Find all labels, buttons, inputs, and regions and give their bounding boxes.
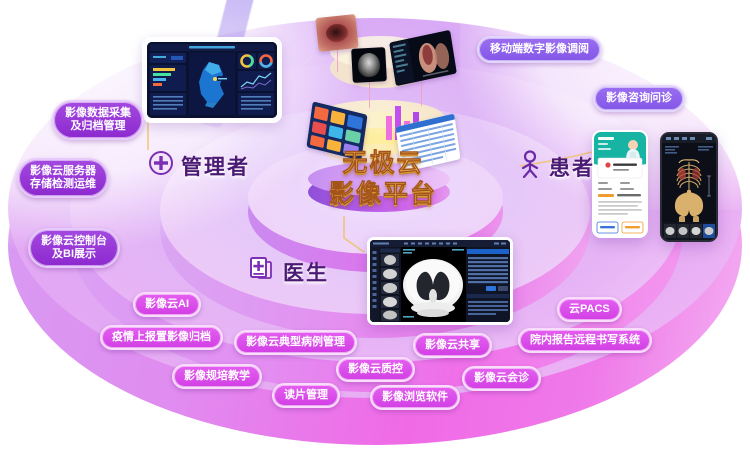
bi-dashboard-screen: [147, 42, 277, 118]
ultrasound-mini-screen: [351, 47, 387, 83]
role-patient-label: 患者: [549, 152, 595, 182]
infographic-canvas: 无极云 影像平台 管理者 患者: [0, 0, 750, 450]
feature-pill-line1: 影像数据采集: [65, 107, 131, 120]
bi-dashboard-laptop: [142, 37, 282, 123]
feature-pill-doctor-5[interactable]: 影像云质控: [336, 357, 415, 382]
feature-pill-line1: 影像云服务器: [30, 165, 96, 178]
feature-pill-admin-0[interactable]: 影像数据采集 及归档管理: [52, 100, 144, 140]
feature-pill-doctor-0[interactable]: 影像云AI: [133, 292, 201, 317]
feature-pill-line1: 影像云控制台: [41, 235, 107, 248]
plus-circle-icon: [148, 150, 174, 181]
role-administrator-label: 管理者: [181, 151, 250, 181]
feature-pill-doctor-9[interactable]: 云PACS: [557, 297, 622, 322]
platform-title-line2: 影像平台: [318, 179, 448, 210]
ct-viewer-screen: [370, 240, 510, 322]
mini-screen-stem: [369, 82, 370, 108]
feature-pill-line2: 及BI展示: [41, 248, 107, 261]
patient-3d-phone: [660, 132, 718, 242]
ct-workstation-panel: [367, 237, 513, 325]
feature-pill-patient-1[interactable]: 影像咨询问诊: [593, 85, 685, 112]
role-doctor-label: 医生: [283, 257, 329, 287]
mini-screen-stem: [337, 50, 338, 72]
platform-title: 无极云 影像平台: [318, 148, 448, 209]
endoscopy-mini-screen: [315, 14, 358, 52]
feature-pill-doctor-1[interactable]: 疫情上报置影像归档: [100, 325, 223, 350]
feature-pill-admin-2[interactable]: 影像云控制台 及BI展示: [28, 228, 120, 268]
platform-title-line1: 无极云: [318, 148, 448, 179]
feature-pill-doctor-2[interactable]: 影像云典型病例管理: [234, 330, 357, 355]
feature-pill-doctor-8[interactable]: 影像云会诊: [462, 366, 541, 391]
feature-pill-doctor-7[interactable]: 影像浏览软件: [370, 385, 460, 410]
feature-pill-patient-0[interactable]: 移动端数字影像调阅: [477, 36, 602, 63]
patient-report-phone: [592, 130, 648, 238]
role-patient[interactable]: 患者: [518, 150, 595, 183]
feature-pill-doctor-4[interactable]: 影像云共享: [413, 333, 492, 358]
feature-pill-doctor-10[interactable]: 院内报告远程书写系统: [518, 328, 652, 353]
feature-pill-doctor-6[interactable]: 读片管理: [272, 383, 340, 408]
person-icon: [518, 150, 542, 183]
role-administrator[interactable]: 管理者: [148, 150, 250, 181]
role-doctor[interactable]: 医生: [248, 255, 329, 288]
feature-pill-admin-1[interactable]: 影像云服务器 存储检测运维: [17, 158, 109, 198]
feature-pill-doctor-3[interactable]: 影像规培教学: [172, 364, 262, 389]
medical-file-icon: [248, 255, 276, 288]
feature-pill-line2: 及归档管理: [65, 120, 131, 133]
feature-pill-line2: 存储检测运维: [30, 178, 96, 191]
